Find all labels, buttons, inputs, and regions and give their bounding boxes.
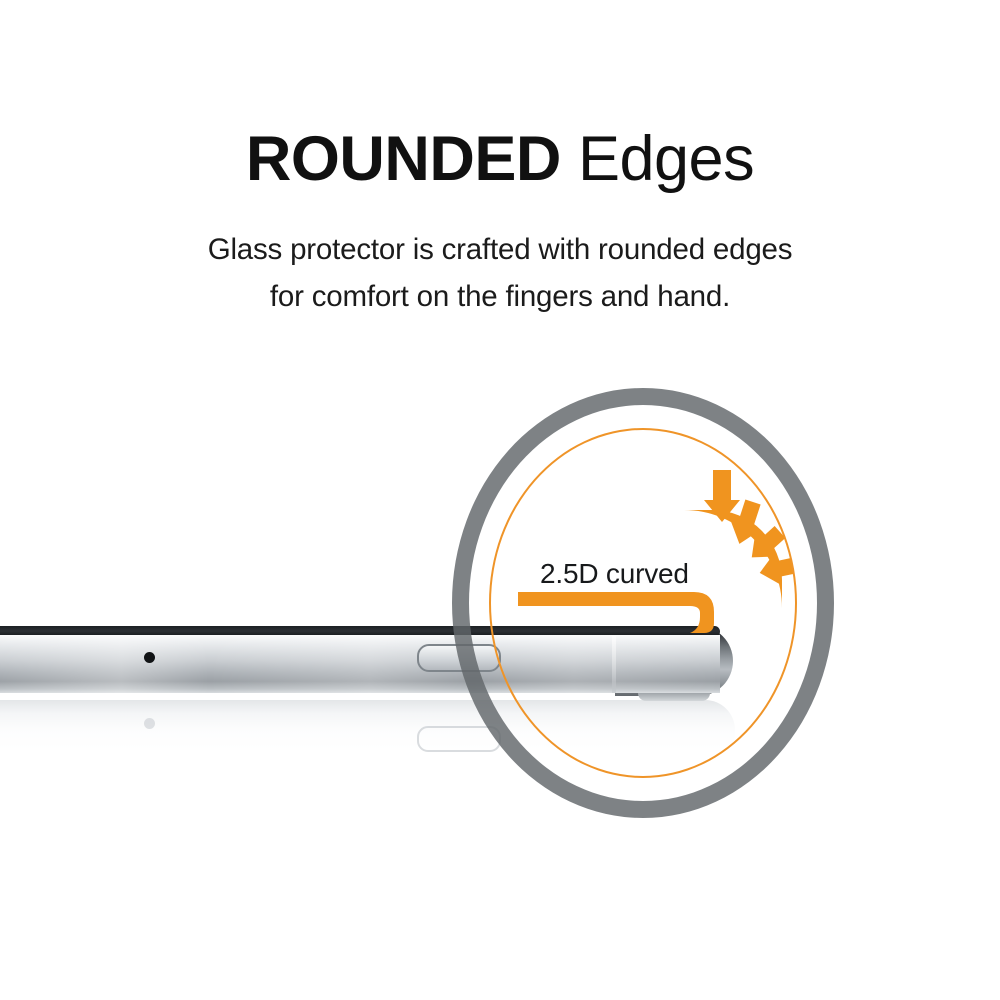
page-subtitle: Glass protector is crafted with rounded … [0, 226, 1000, 320]
page-title-strong: ROUNDED [246, 124, 561, 194]
magnifier-inner-ring [489, 428, 797, 778]
page-subtitle-line-2: for comfort on the fingers and hand. [0, 273, 1000, 320]
phone-microphone-hole [144, 652, 155, 663]
phone-reflection-mic [144, 718, 155, 729]
magnifier-callout [452, 388, 834, 818]
page-title: ROUNDED Edges [0, 128, 1000, 191]
page-title-light: Edges [561, 124, 754, 194]
product-feature-image: ROUNDED Edges Glass protector is crafted… [0, 0, 1000, 1000]
page-subtitle-line-1: Glass protector is crafted with rounded … [0, 226, 1000, 273]
